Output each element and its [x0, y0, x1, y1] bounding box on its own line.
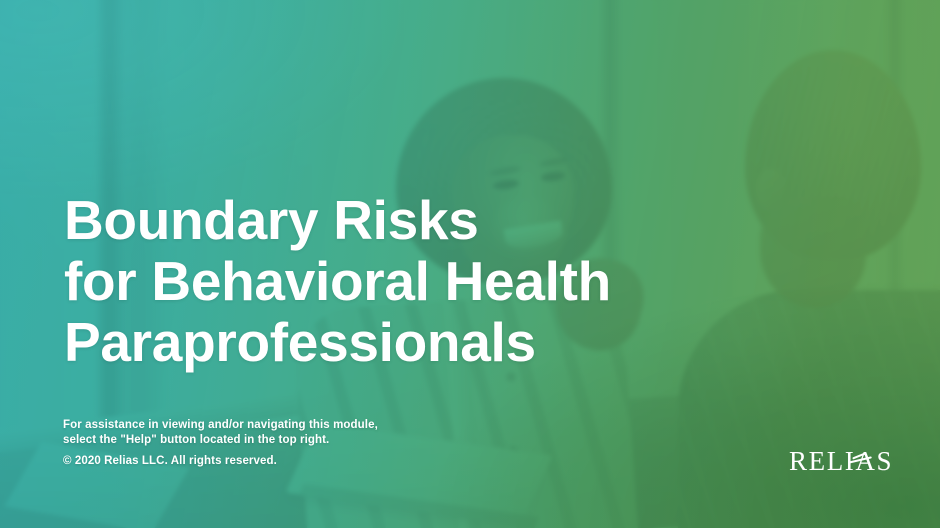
relias-logo: RELIAS	[789, 446, 897, 476]
help-instruction-text: For assistance in viewing and/or navigat…	[63, 418, 378, 447]
copyright-notice: © 2020 Relias LLC. All rights reserved.	[63, 455, 277, 467]
page-title: Boundary Risks for Behavioral Health Par…	[64, 190, 764, 373]
relias-logo-text: RELIAS	[789, 446, 893, 476]
title-slide: Boundary Risks for Behavioral Health Par…	[0, 0, 940, 528]
